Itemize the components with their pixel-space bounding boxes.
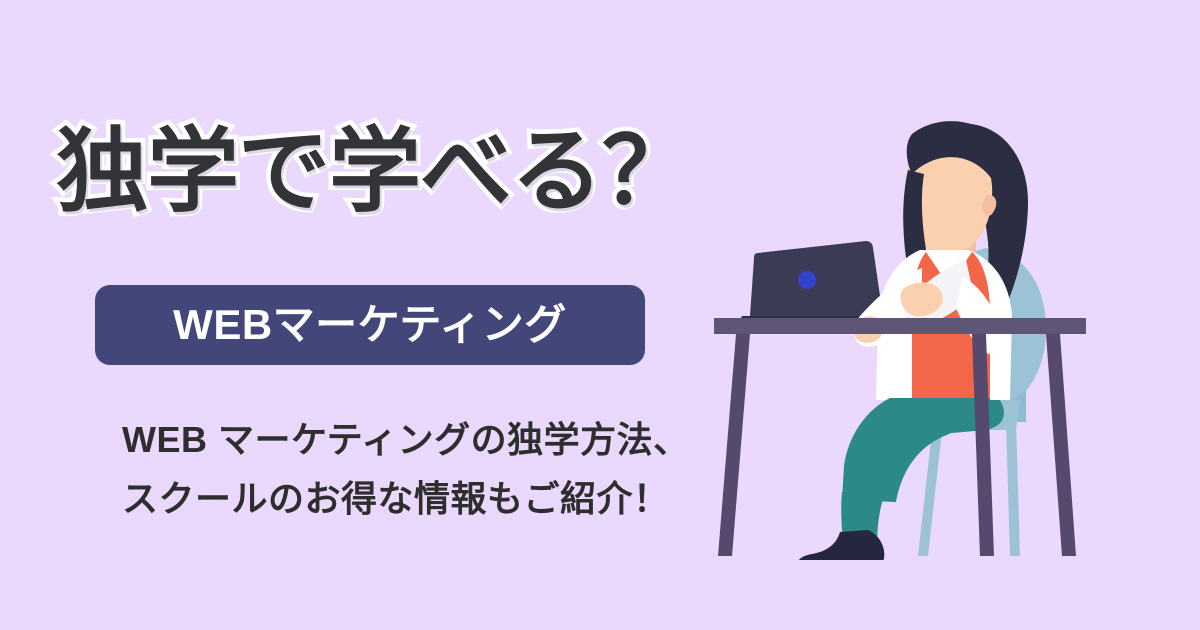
category-badge-label: WEBマーケティング: [173, 304, 567, 346]
text-block: 独学で学べる？ WEBマーケティング WEB マーケティングの独学方法、 スクー…: [0, 0, 700, 630]
subtitle-line-2: スクールのお得な情報もご紹介！: [122, 469, 690, 528]
illustration-woman-at-laptop: [690, 100, 1140, 560]
subtitle-line-1: WEB マーケティングの独学方法、: [122, 410, 690, 469]
laptop-logo-icon: [798, 271, 816, 289]
subtitle: WEB マーケティングの独学方法、 スクールのお得な情報もご紹介！: [122, 410, 690, 529]
shoe-icon: [797, 530, 885, 560]
category-badge: WEBマーケティング: [95, 285, 645, 365]
poster-canvas: 独学で学べる？ WEBマーケティング WEB マーケティングの独学方法、 スクー…: [0, 0, 1200, 630]
page-title: 独学で学べる？: [56, 126, 693, 218]
